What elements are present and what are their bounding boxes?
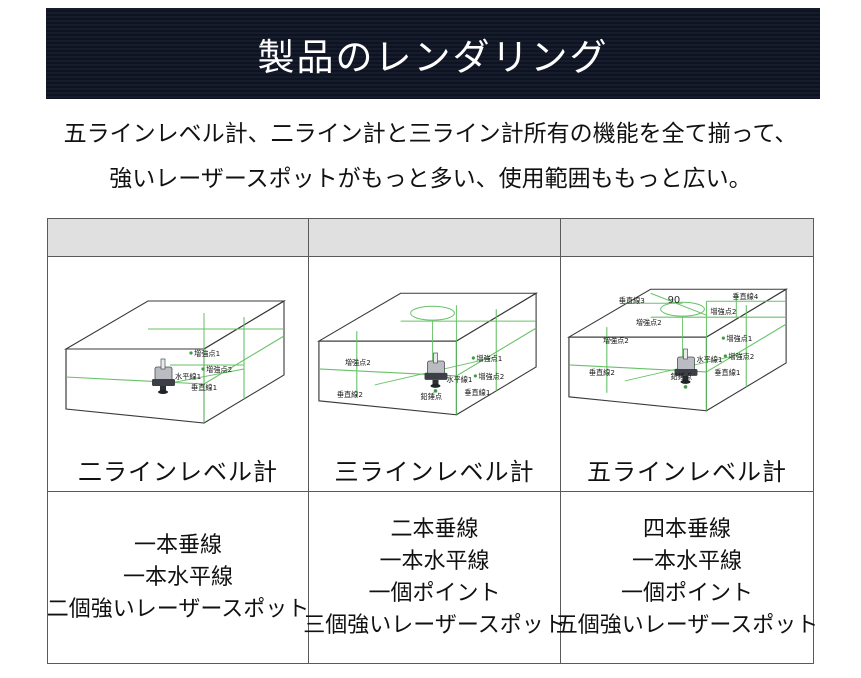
laser-dot — [472, 356, 475, 359]
spec-cell-two-line: 一本垂線 一本水平線 二個強いレーザースポット — [48, 492, 309, 664]
room-wireframe — [569, 289, 786, 411]
spec-item: 一本水平線 — [632, 546, 742, 577]
label-enhance2-top: 増強点2 — [710, 307, 736, 316]
spec-cell-five-line: 四本垂線 一本水平線 一個ポイント 五個強いレーザースポット — [561, 492, 814, 664]
subtitle-block: 五ラインレベル計、二ライン計と三ライン計所有の機能を全て揃って、 強いレーザース… — [0, 112, 861, 202]
room-svg-three-line: 増強点2 垂直線2 増強点1 増強点2 水平線1 垂直線1 鉛錘点 — [309, 257, 560, 453]
laser-dot — [201, 367, 204, 370]
comparison-table: 増強点1 増強点2 水平線1 垂直線1 二ラインレベル計 — [47, 218, 814, 664]
label-plumb: 鉛錘点 — [421, 392, 442, 401]
spec-item: 二本垂線 — [390, 514, 478, 545]
product-rendering-page: 製品のレンダリング 五ラインレベル計、二ライン計と三ライン計所有の機能を全て揃っ… — [0, 0, 861, 678]
label-angle: 90 — [668, 295, 681, 306]
diagram-cell-five-line: 垂直線3 90 垂直線4 増強点2 増強点2 増強点2 垂直線2 増強点1 増強… — [561, 257, 814, 492]
label-vertical3: 垂直線3 — [619, 296, 645, 305]
diagram-cell-three-line: 増強点2 垂直線2 増強点1 増強点2 水平線1 垂直線1 鉛錘点 三ラインレベ… — [309, 257, 561, 492]
header-cell-five-line — [561, 219, 814, 257]
subtitle-line-1: 五ラインレベル計、二ライン計と三ライン計所有の機能を全て揃って、 — [0, 112, 861, 157]
spec-list-five-line: 四本垂線 一本水平線 一個ポイント 五個強いレーザースポット — [561, 492, 813, 663]
subtitle-line-2: 強いレーザースポットがもっと多い、使用範囲ももっと広い。 — [0, 157, 861, 202]
label-horizontal1: 水平線1 — [696, 355, 722, 364]
caption-two-line: 二ラインレベル計 — [48, 452, 308, 487]
isometric-room-three-line: 増強点2 垂直線2 増強点1 増強点2 水平線1 垂直線1 鉛錘点 — [309, 257, 560, 453]
table-header-row — [48, 219, 814, 257]
label-enhance2-left: 増強点2 — [603, 336, 629, 345]
caption-five-line: 五ラインレベル計 — [561, 452, 813, 487]
label-vertical4: 垂直線4 — [732, 292, 758, 301]
label-vertical1: 垂直線1 — [464, 388, 490, 397]
label-horizontal1: 水平線1 — [446, 375, 472, 384]
spec-item: 一本水平線 — [123, 562, 233, 593]
header-cell-three-line — [309, 219, 561, 257]
label-enhance2-upper: 増強点2 — [636, 318, 662, 327]
label-enhance1: 増強点1 — [194, 349, 220, 358]
page-title: 製品のレンダリング — [258, 27, 609, 81]
plumb-dot — [434, 389, 438, 393]
label-vertical1: 垂直線1 — [191, 383, 217, 392]
spec-item: 一個ポイント — [368, 578, 500, 609]
label-enhance2: 増強点2 — [728, 352, 754, 361]
spec-item: 五個強いレーザースポット — [556, 610, 818, 641]
table-diagram-row: 増強点1 増強点2 水平線1 垂直線1 二ラインレベル計 — [48, 257, 814, 492]
room-wireframe — [66, 301, 284, 423]
laser-level-device-icon — [425, 353, 448, 388]
laser-dot — [724, 354, 727, 357]
label-vertical2: 垂直線2 — [337, 390, 363, 399]
spec-item: 一本水平線 — [379, 546, 489, 577]
label-enhance1: 増強点1 — [476, 354, 502, 363]
label-plumb: 鉛錘点 — [671, 372, 692, 381]
header-banner: 製品のレンダリング — [46, 8, 820, 99]
room-svg-five-line: 垂直線3 90 垂直線4 増強点2 増強点2 増強点2 垂直線2 増強点1 増強… — [561, 257, 813, 453]
spec-item: 一個ポイント — [621, 578, 753, 609]
laser-dot — [189, 351, 192, 354]
laser-dot — [722, 336, 725, 339]
label-enhance2-left: 増強点2 — [345, 358, 371, 367]
spec-list-two-line: 一本垂線 一本水平線 二個強いレーザースポット — [48, 492, 308, 663]
isometric-room-two-line: 増強点1 増強点2 水平線1 垂直線1 — [48, 257, 308, 453]
spec-list-three-line: 二本垂線 一本水平線 一個ポイント 三個強いレーザースポット — [309, 492, 560, 663]
label-vertical1: 垂直線1 — [714, 368, 740, 377]
label-vertical2: 垂直線2 — [589, 368, 615, 377]
laser-dot — [474, 374, 477, 377]
label-enhance2: 増強点2 — [206, 365, 232, 374]
header-cell-two-line — [48, 219, 309, 257]
plumb-dot — [684, 385, 688, 389]
caption-three-line: 三ラインレベル計 — [309, 452, 560, 487]
label-enhance1: 増強点1 — [726, 334, 752, 343]
spec-item: 二個強いレーザースポット — [47, 594, 309, 625]
label-horizontal1: 水平線1 — [175, 372, 201, 381]
diagram-cell-two-line: 増強点1 増強点2 水平線1 垂直線1 二ラインレベル計 — [48, 257, 309, 492]
room-svg-two-line: 増強点1 増強点2 水平線1 垂直線1 — [48, 257, 308, 453]
spec-cell-three-line: 二本垂線 一本水平線 一個ポイント 三個強いレーザースポット — [309, 492, 561, 664]
laser-level-device-icon — [152, 359, 175, 394]
spec-item: 三個強いレーザースポット — [303, 610, 565, 641]
table-spec-row: 一本垂線 一本水平線 二個強いレーザースポット 二本垂線 一本水平線 一個ポイン… — [48, 492, 814, 664]
spec-item: 一本垂線 — [134, 530, 222, 561]
spec-item: 四本垂線 — [643, 514, 731, 545]
isometric-room-five-line: 垂直線3 90 垂直線4 増強点2 増強点2 増強点2 垂直線2 増強点1 増強… — [561, 257, 813, 453]
label-enhance2: 増強点2 — [478, 372, 504, 381]
